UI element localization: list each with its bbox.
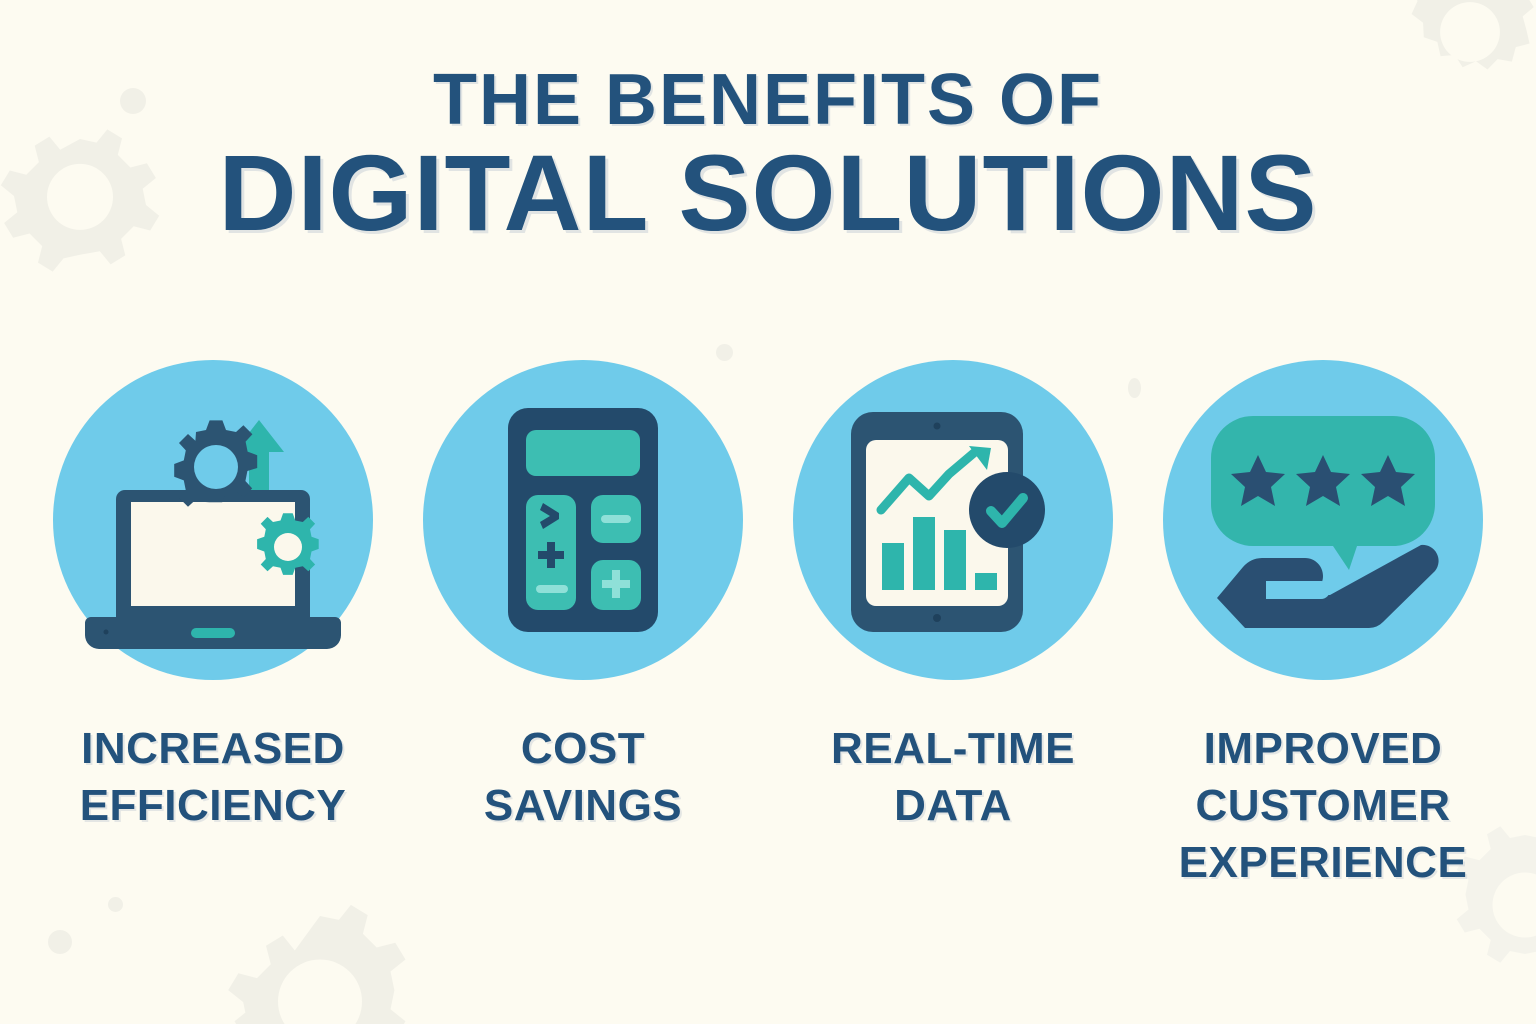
benefit-label-cost-savings: COST SAVINGS (484, 720, 682, 834)
hand-speech-bubble-stars-icon (1173, 370, 1473, 670)
calculator-icon (433, 370, 733, 670)
title-line-1: THE BENEFITS OF (0, 62, 1536, 138)
benefit-label-line-1: COST (484, 720, 682, 777)
benefits-row: INCREASED EFFICIENCY (0, 360, 1536, 891)
benefit-label-line-1: IMPROVED (1179, 720, 1468, 777)
benefit-label-line-2: DATA (831, 777, 1075, 834)
icon-circle-improved-customer-experience (1163, 360, 1483, 680)
benefit-card-cost-savings[interactable]: COST SAVINGS (418, 360, 748, 891)
icon-circle-real-time-data (793, 360, 1113, 680)
bar-1 (882, 543, 904, 590)
benefit-label-increased-efficiency: INCREASED EFFICIENCY (80, 720, 347, 834)
benefit-label-line-1: INCREASED (80, 720, 347, 777)
icon-circle-increased-efficiency (53, 360, 373, 680)
infographic-page: THE BENEFITS OF DIGITAL SOLUTIONS (0, 0, 1536, 1024)
benefit-card-improved-customer-experience[interactable]: IMPROVED CUSTOMER EXPERIENCE (1158, 360, 1488, 891)
decorative-dot (48, 930, 72, 954)
benefit-label-line-2: EFFICIENCY (80, 777, 347, 834)
benefit-label-improved-customer-experience: IMPROVED CUSTOMER EXPERIENCE (1179, 720, 1468, 891)
bar-4 (975, 573, 997, 590)
bar-2 (913, 517, 935, 590)
benefit-label-line-2: SAVINGS (484, 777, 682, 834)
benefit-label-line-2: CUSTOMER (1179, 777, 1468, 834)
benefit-card-real-time-data[interactable]: REAL-TIME DATA (788, 360, 1118, 891)
calculator-display (526, 430, 640, 476)
bar-3 (944, 530, 966, 590)
decorative-dot (716, 344, 733, 361)
benefit-label-real-time-data: REAL-TIME DATA (831, 720, 1075, 834)
laptop-gears-arrow-icon (63, 370, 363, 670)
benefit-card-increased-efficiency[interactable]: INCREASED EFFICIENCY (48, 360, 378, 891)
decorative-dot (108, 897, 123, 912)
gear-watermark-bottom-left (170, 880, 470, 1024)
tablet-chart-check-icon (803, 370, 1103, 670)
icon-circle-cost-savings (423, 360, 743, 680)
page-title: THE BENEFITS OF DIGITAL SOLUTIONS (0, 62, 1536, 248)
title-line-2: DIGITAL SOLUTIONS (0, 138, 1536, 248)
benefit-label-line-3: EXPERIENCE (1179, 834, 1468, 891)
benefit-label-line-1: REAL-TIME (831, 720, 1075, 777)
